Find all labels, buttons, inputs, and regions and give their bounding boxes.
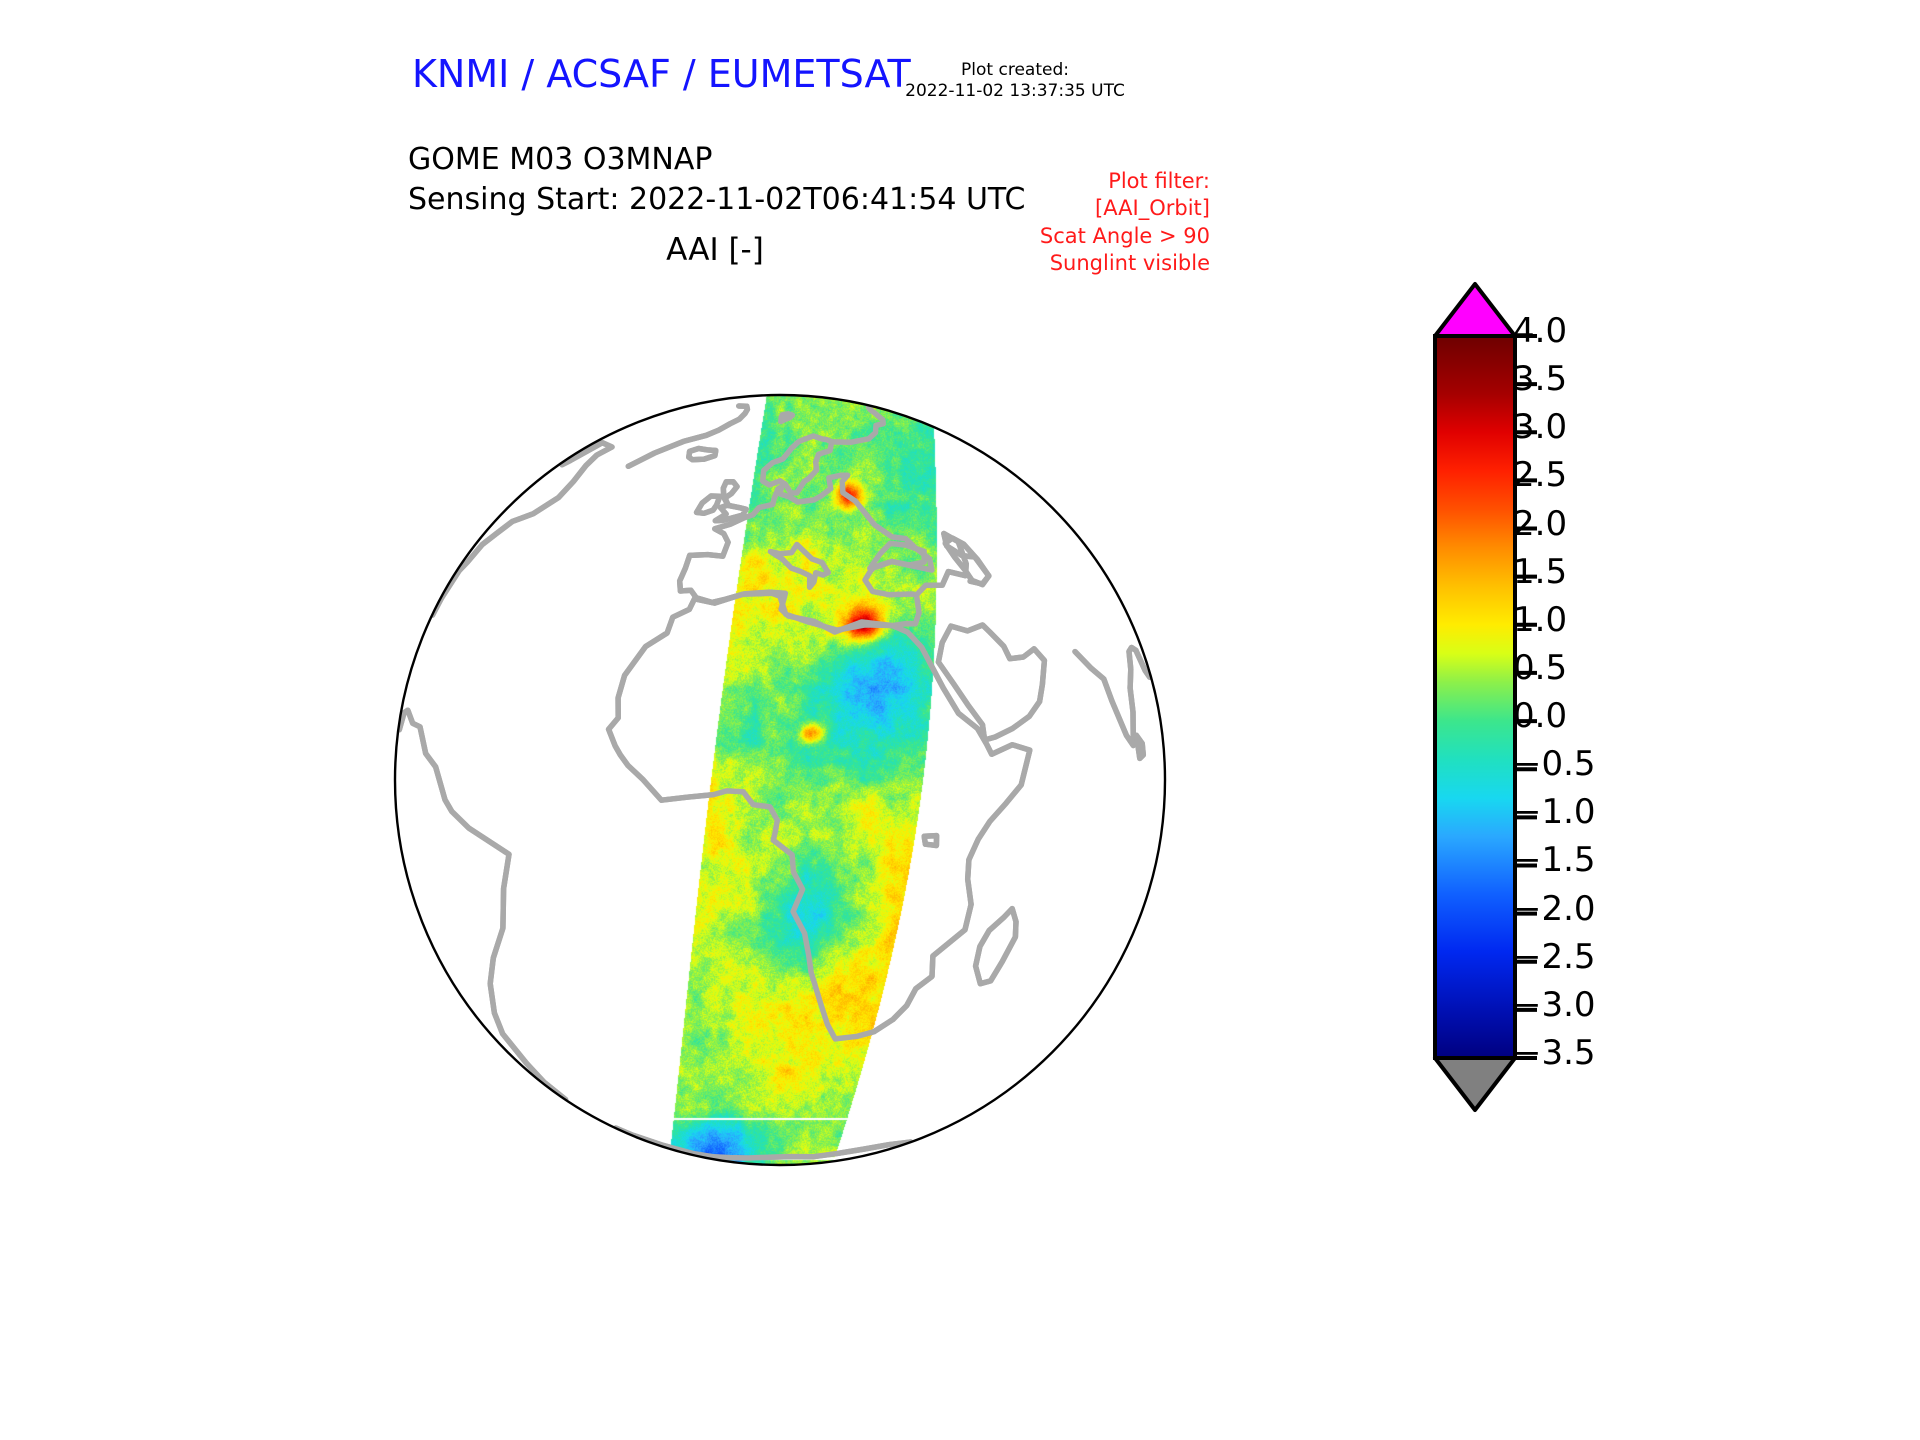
- plot-filter-label: Plot filter:: [910, 168, 1210, 195]
- colorbar-tick-label: −3.0: [1513, 988, 1596, 1022]
- map-container: [380, 270, 1410, 1310]
- colorbar-tick-label: −2.0: [1513, 892, 1596, 926]
- globe-map: [380, 270, 1410, 1310]
- colorbar-tick-label: 3.5: [1513, 362, 1567, 396]
- satellite-swath-layer: [380, 270, 1410, 1310]
- colorbar-gradient-bar: [1435, 336, 1515, 1058]
- colorbar-under-range-arrow: [1435, 1058, 1515, 1110]
- plot-created-label: Plot created:: [870, 60, 1160, 81]
- colorbar-tick-label: −0.5: [1513, 747, 1596, 781]
- colorbar-tick-label: −1.0: [1513, 795, 1596, 829]
- colorbar-tick-label: −2.5: [1513, 940, 1596, 974]
- colorbar-tick-label: −1.5: [1513, 843, 1596, 877]
- plot-created-timestamp: 2022-11-02 13:37:35 UTC: [870, 81, 1160, 102]
- colorbar-tick-label: 2.0: [1513, 507, 1567, 541]
- colorbar-tick-label: 0.5: [1513, 651, 1567, 685]
- colorbar-tick-label: −3.5: [1513, 1036, 1596, 1070]
- colorbar-tick-label: 1.5: [1513, 555, 1567, 589]
- organisation-title: KNMI / ACSAF / EUMETSAT: [412, 52, 911, 96]
- colorbar-tick-label: 1.0: [1513, 603, 1567, 637]
- colorbar-tick-label: 0.0: [1513, 699, 1567, 733]
- colorbar-tick-label: 3.0: [1513, 410, 1567, 444]
- plot-created-block: Plot created: 2022-11-02 13:37:35 UTC: [870, 60, 1160, 103]
- aai-swath-raster: [380, 270, 1410, 1310]
- plot-title: AAI [-]: [0, 232, 1430, 268]
- colorbar-tick-label: 2.5: [1513, 458, 1567, 492]
- colorbar-over-range-arrow: [1435, 284, 1515, 336]
- plot-page: KNMI / ACSAF / EUMETSAT Plot created: 20…: [0, 0, 1920, 1440]
- colorbar-tick-label: 4.0: [1513, 314, 1567, 348]
- colorbar-container: 4.03.53.02.52.01.51.00.50.0−0.5−1.0−1.5−…: [1425, 270, 1845, 1330]
- plot-filter-name: [AAI_Orbit]: [910, 195, 1210, 222]
